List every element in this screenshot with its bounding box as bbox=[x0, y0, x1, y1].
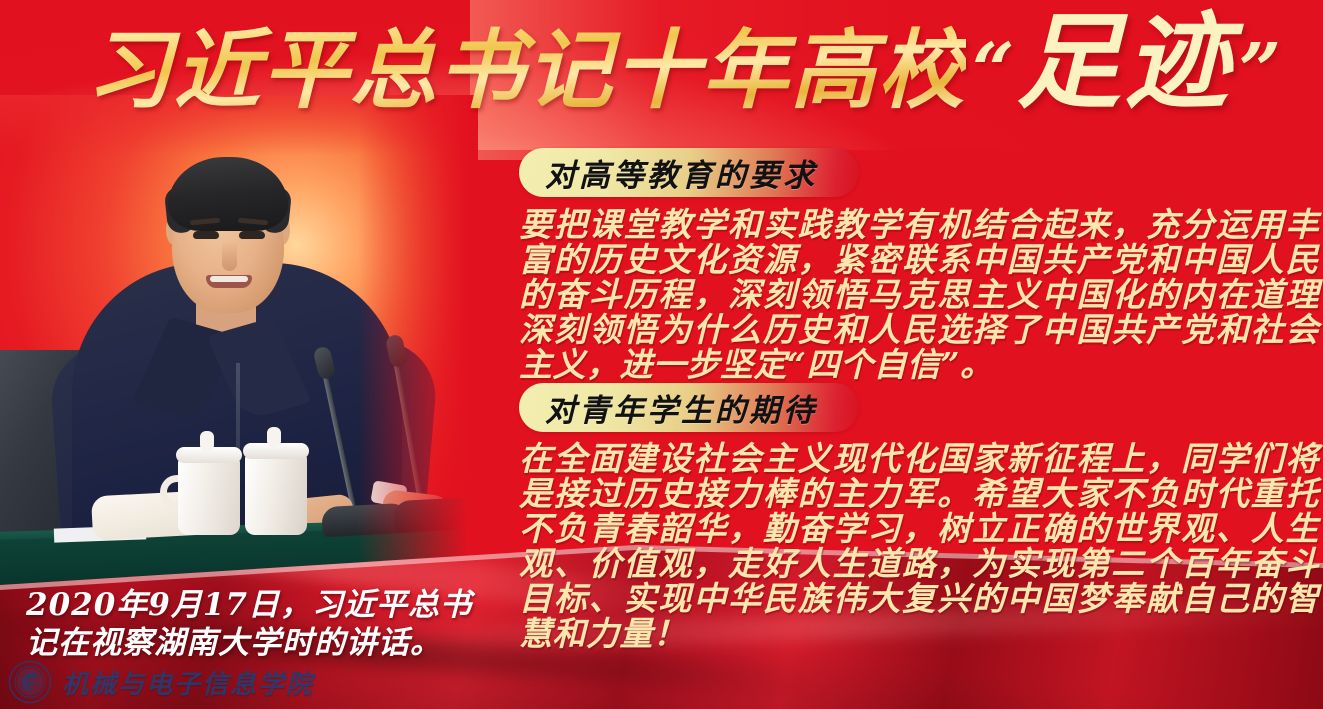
teeth bbox=[210, 276, 248, 282]
section-header-label: 对高等教育的要求 bbox=[519, 150, 817, 195]
section-body-higher-education: 要把课堂教学和实践教学有机结合起来，充分运用丰富的历史文化资源，紧密联系中国共产… bbox=[519, 207, 1319, 382]
poster-title: 习近平总书记十年高校 “ 足迹 ” bbox=[86, 6, 1283, 114]
leader-photo bbox=[0, 95, 478, 595]
section-header-higher-education: 对高等教育的要求 bbox=[519, 148, 859, 197]
teacup-2 bbox=[245, 453, 307, 535]
section-body-youth-expectations: 在全面建设社会主义现代化国家新征程上，同学们将是接过历史接力棒的主力军。希望大家… bbox=[519, 441, 1319, 651]
eye-left bbox=[193, 231, 219, 239]
title-main-text: 习近平总书记十年高校 bbox=[86, 6, 966, 114]
watermark: 机械与电子信息学院 bbox=[8, 660, 314, 704]
section-header-youth-expectations: 对青年学生的期待 bbox=[519, 383, 859, 432]
teacup-1-knob bbox=[200, 431, 214, 451]
title-accent-text: 足迹 bbox=[1017, 10, 1233, 114]
nose bbox=[222, 241, 237, 271]
photo-caption: 2020年9月17日，习近平总书记在视察湖南大学时的讲话。 bbox=[26, 586, 496, 662]
teacup-2-knob bbox=[267, 427, 281, 447]
section-header-label: 对青年学生的期待 bbox=[519, 385, 817, 430]
teacup-1 bbox=[178, 457, 240, 535]
eye-right bbox=[239, 231, 265, 239]
circular-seal-logo-icon bbox=[8, 660, 52, 704]
title-quote-open: “ bbox=[972, 34, 1015, 108]
poster-root: 习近平总书记十年高校 “ 足迹 ” 对高等教育的要求 要把课堂教学和实践教学有机… bbox=[0, 0, 1323, 709]
watermark-label: 机械与电子信息学院 bbox=[62, 664, 314, 701]
title-quote-close: ” bbox=[1239, 34, 1282, 108]
photo-right-blend bbox=[358, 95, 478, 595]
